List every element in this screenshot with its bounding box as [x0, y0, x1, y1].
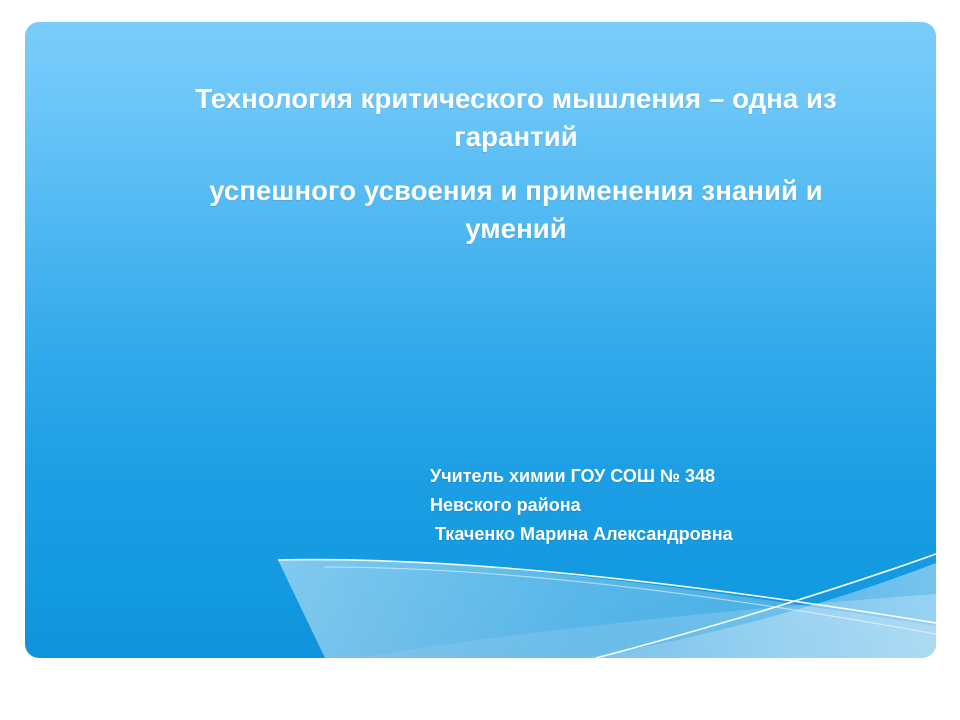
- wave-stroke-secondary: [324, 567, 936, 634]
- wave-stroke-ascending: [596, 554, 936, 658]
- slide-title: Технология критического мышления – одна …: [156, 80, 876, 248]
- author-line-name: Ткаченко Марина Александровна: [430, 520, 930, 549]
- wave-stroke-descending: [278, 560, 936, 623]
- wave-ribbon-lower: [585, 563, 936, 658]
- wave-ribbon-upper: [278, 560, 936, 658]
- slide-title-line-2: успешного усвоения и применения знаний и…: [156, 172, 876, 248]
- author-line-district: Невского района: [430, 491, 930, 520]
- slide-author-block: Учитель химии ГОУ СОШ № 348 Невского рай…: [430, 462, 930, 549]
- presentation-slide: Технология критического мышления – одна …: [25, 22, 936, 658]
- slide-page: Технология критического мышления – одна …: [0, 0, 960, 720]
- wave-ribbon-wash: [355, 594, 936, 658]
- slide-title-line-1: Технология критического мышления – одна …: [156, 80, 876, 156]
- author-line-school: Учитель химии ГОУ СОШ № 348: [430, 462, 930, 491]
